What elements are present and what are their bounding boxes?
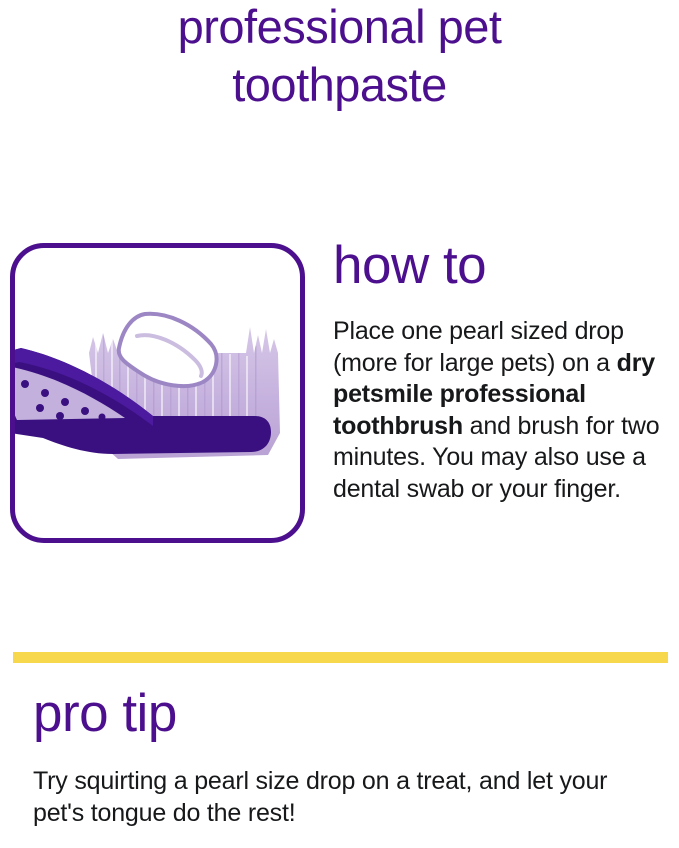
how-to-body-part-1: Place one pearl sized drop (more for lar…	[333, 317, 624, 377]
pro-tip-section: pro tip Try squirting a pearl size drop …	[33, 683, 663, 829]
yellow-divider	[13, 652, 668, 663]
pro-tip-body: Try squirting a pearl size drop on a tre…	[33, 745, 663, 829]
toothbrush-illustration-frame	[10, 243, 305, 543]
how-to-section: how to Place one pearl sized drop (more …	[0, 235, 679, 555]
page-title: professional pet toothpaste	[0, 0, 679, 114]
how-to-body: Place one pearl sized drop (more for lar…	[333, 294, 663, 505]
page-title-line-1: professional pet	[0, 0, 679, 56]
how-to-text-block: how to Place one pearl sized drop (more …	[333, 235, 663, 505]
toothbrush-with-paste-icon	[10, 248, 305, 540]
pro-tip-heading: pro tip	[33, 683, 663, 745]
how-to-heading: how to	[333, 235, 663, 294]
page-title-line-2: toothpaste	[0, 56, 679, 114]
